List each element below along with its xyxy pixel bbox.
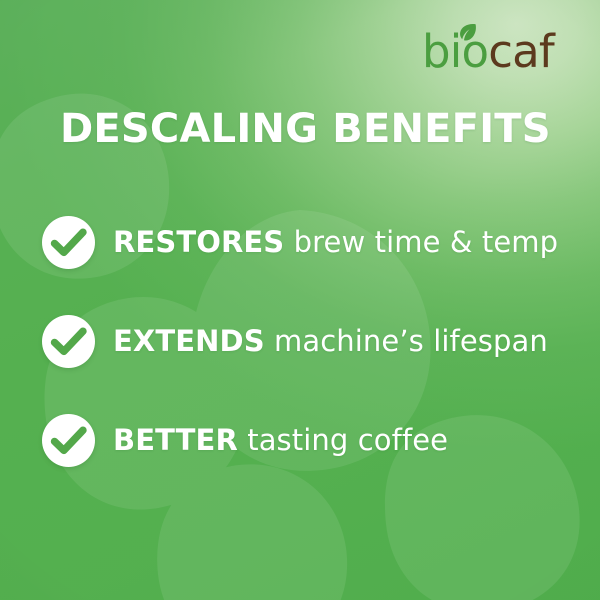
- benefit-item: BETTER tasting coffee: [42, 413, 582, 467]
- benefit-text: EXTENDS machine’s lifespan: [113, 323, 548, 359]
- benefit-detail: [284, 225, 293, 259]
- benefit-detail-text: brew time & temp: [294, 225, 559, 259]
- benefit-text: RESTORES brew time & temp: [113, 224, 558, 260]
- benefit-detail-text: machine’s lifespan: [274, 324, 548, 358]
- benefit-item: RESTORES brew time & temp: [42, 215, 582, 269]
- check-circle-icon: [42, 315, 95, 368]
- benefit-emphasis: RESTORES: [113, 225, 284, 259]
- benefit-detail: [238, 423, 247, 457]
- benefit-detail: [265, 324, 274, 358]
- check-circle-icon: [42, 414, 95, 467]
- benefit-detail-text: tasting coffee: [247, 423, 448, 457]
- check-circle-icon: [42, 216, 95, 269]
- benefit-emphasis: BETTER: [113, 423, 238, 457]
- descaling-benefits-poster: biocaf DESCALING BENEFITS RESTORES brew …: [0, 0, 600, 600]
- benefit-item: EXTENDS machine’s lifespan: [42, 314, 582, 368]
- benefit-text: BETTER tasting coffee: [113, 422, 448, 458]
- benefits-list: RESTORES brew time & temp EXTENDS machin…: [0, 0, 600, 600]
- benefit-emphasis: EXTENDS: [113, 324, 265, 358]
